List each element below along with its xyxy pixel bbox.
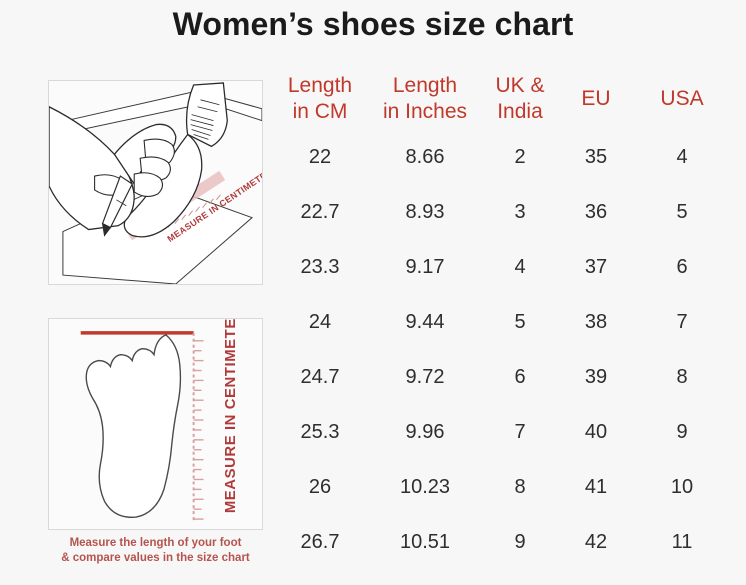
cell-uk-india: 9 [482,531,558,554]
column-header-length-inches: Length in Inches [368,73,482,125]
column-header-usa: USA [634,86,730,112]
cell-length-cm: 23.3 [272,256,368,279]
table-row: 25.39.967409 [272,405,730,460]
cell-length-cm: 25.3 [272,421,368,444]
header-line-2: in CM [272,99,368,125]
cell-uk-india: 7 [482,421,558,444]
cell-uk-india: 3 [482,201,558,224]
column-header-length-cm: Length in CM [272,73,368,125]
measurement-instructions-caption: Measure the length of your foot & compar… [48,536,263,566]
cell-length-cm: 24 [272,311,368,334]
cell-length-cm: 26 [272,476,368,499]
cell-usa: 8 [634,366,730,389]
header-line-1: Length [272,73,368,99]
cell-length-inches: 10.51 [368,531,482,554]
cell-length-cm: 22.7 [272,201,368,224]
hand-tracing-foot-illustration: MEASURE IN CENTIMETERS [48,80,263,285]
cell-eu: 36 [558,201,634,224]
table-body: 228.66235422.78.93336523.39.174376249.44… [272,130,730,570]
page-title: Women’s shoes size chart [0,6,746,43]
table-row: 24.79.726398 [272,350,730,405]
cell-uk-india: 4 [482,256,558,279]
column-header-eu: EU [558,86,634,112]
cell-length-cm: 22 [272,146,368,169]
cell-length-inches: 9.72 [368,366,482,389]
header-line-1: Length [368,73,482,99]
table-row: 22.78.933365 [272,185,730,240]
size-chart-page: Women’s shoes size chart [0,0,746,585]
cell-eu: 42 [558,531,634,554]
table-header-row: Length in CM Length in Inches UK & India… [272,68,730,130]
header-line-2: India [482,99,558,125]
bottom-ruler-label: MEASURE IN CENTIMETERS [223,319,239,513]
cell-length-cm: 26.7 [272,531,368,554]
cell-length-inches: 10.23 [368,476,482,499]
cell-length-inches: 8.66 [368,146,482,169]
cell-usa: 6 [634,256,730,279]
cell-eu: 38 [558,311,634,334]
cell-eu: 41 [558,476,634,499]
column-header-uk-india: UK & India [482,73,558,125]
cell-usa: 4 [634,146,730,169]
cell-uk-india: 2 [482,146,558,169]
cell-usa: 9 [634,421,730,444]
cell-length-inches: 9.44 [368,311,482,334]
cell-eu: 39 [558,366,634,389]
table-row: 26.710.5194211 [272,515,730,570]
header-line-2: in Inches [368,99,482,125]
cell-uk-india: 5 [482,311,558,334]
table-row: 228.662354 [272,130,730,185]
caption-line-2: & compare values in the size chart [48,551,263,566]
cell-usa: 5 [634,201,730,224]
cell-uk-india: 6 [482,366,558,389]
size-chart-table: Length in CM Length in Inches UK & India… [272,68,730,570]
cell-length-cm: 24.7 [272,366,368,389]
cell-length-inches: 8.93 [368,201,482,224]
table-row: 23.39.174376 [272,240,730,295]
header-line-1: EU [558,86,634,112]
cell-usa: 11 [634,531,730,554]
cell-length-inches: 9.96 [368,421,482,444]
table-row: 2610.2384110 [272,460,730,515]
header-line-1: UK & [482,73,558,99]
cell-eu: 35 [558,146,634,169]
cell-eu: 37 [558,256,634,279]
cell-uk-india: 8 [482,476,558,499]
foot-outline-with-ruler-illustration: MEASURE IN CENTIMETERS [48,318,263,530]
table-row: 249.445387 [272,295,730,350]
cell-usa: 7 [634,311,730,334]
header-line-1: USA [634,86,730,112]
cell-eu: 40 [558,421,634,444]
cell-usa: 10 [634,476,730,499]
cell-length-inches: 9.17 [368,256,482,279]
caption-line-1: Measure the length of your foot [48,536,263,551]
